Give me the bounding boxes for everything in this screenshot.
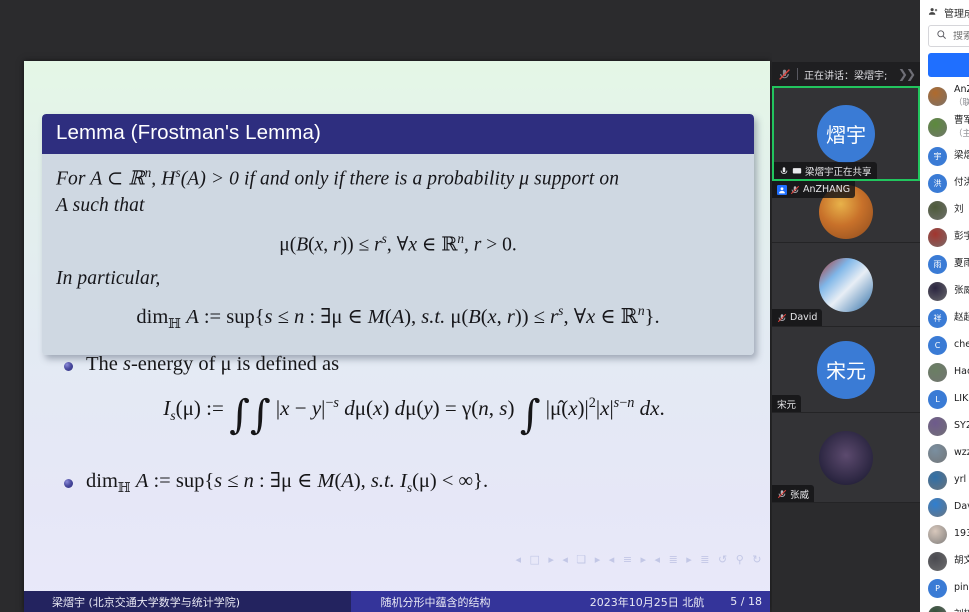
participant-search[interactable] xyxy=(928,25,969,47)
tile-label: 张威 xyxy=(772,485,814,502)
theorem-title: Lemma (Frostman's Lemma) xyxy=(42,114,754,154)
participant-text: chengang xyxy=(954,340,969,351)
video-tile-liangyuyu[interactable]: 熠宇 梁熠宇正在共享 xyxy=(772,86,920,181)
avatar xyxy=(928,417,947,436)
participant-name: 刘 xyxy=(954,205,964,216)
participant-row[interactable]: wzz xyxy=(920,440,969,467)
avatar xyxy=(819,431,873,485)
mic-muted-icon xyxy=(777,313,787,323)
avatar xyxy=(928,201,947,220)
participant-name: 梁熠宇 xyxy=(954,151,969,162)
bullet-dot-icon xyxy=(64,362,73,371)
participant-row[interactable]: Cchengang xyxy=(920,332,969,359)
participant-text: LIKE xyxy=(954,394,969,405)
speaking-label: 正在讲话：梁熠宇; xyxy=(804,67,887,82)
participant-row[interactable]: 刘梓晖 xyxy=(920,602,969,612)
tile-label: AnZHANG xyxy=(772,181,855,198)
participant-name: 胡文妍 sy xyxy=(954,556,969,567)
avatar xyxy=(928,552,947,571)
avatar xyxy=(819,258,873,312)
avatar: L xyxy=(928,390,947,409)
chevrons-right-icon[interactable]: ❯❯ xyxy=(898,67,914,81)
participants-panel: 管理成员 会议中 AnZHANG（联席主持人）曹军（主持人）宇梁熠宇洪付洪刘彭宇… xyxy=(920,0,969,612)
bullet-label-2: dimℍ A := sup{s ≤ n : ∃μ ∈ M(A), s.t. Is… xyxy=(86,468,488,497)
avatar: 雨 xyxy=(928,255,947,274)
avatar: 熠宇 xyxy=(817,105,875,163)
participant-text: 胡文妍 sy xyxy=(954,556,969,567)
beamer-navigation-symbols[interactable]: ◂ □ ▸ ◂ ❏ ▸ ◂ ≡ ▸ ◂ ≣ ▸ ≣ ↺ ⚲ ↻ xyxy=(515,553,764,566)
host-badge-icon xyxy=(777,185,787,195)
participant-text: pinny xyxy=(954,583,969,594)
avatar xyxy=(928,498,947,517)
participant-row[interactable]: David xyxy=(920,494,969,521)
theorem-in-particular: In particular, xyxy=(56,266,740,293)
tile-label: David xyxy=(772,309,822,326)
participant-row[interactable]: yrl xyxy=(920,467,969,494)
avatar: 洪 xyxy=(928,174,947,193)
avatar: 宋元 xyxy=(817,341,875,399)
tile-label-text: 张威 xyxy=(790,487,809,501)
list-item: The s-energy of μ is defined as xyxy=(64,351,764,379)
participant-text: 赵起祥 xyxy=(954,313,969,324)
video-tile-anzhang[interactable]: AnZHANG xyxy=(772,181,920,243)
mic-muted-icon xyxy=(778,68,791,81)
participant-text: 曹军（主持人） xyxy=(954,116,969,139)
tile-label-text: 宋元 xyxy=(777,397,796,411)
participant-row[interactable]: 宇梁熠宇 xyxy=(920,143,969,170)
participant-name: wzz xyxy=(954,448,969,459)
participant-text: HaoyuSun xyxy=(954,367,969,378)
avatar xyxy=(928,363,947,382)
participant-name: 夏雨 xyxy=(954,259,969,270)
participant-name: yrl xyxy=(954,475,966,486)
participant-row[interactable]: HaoyuSun xyxy=(920,359,969,386)
avatar xyxy=(928,525,947,544)
participant-name: SY230913 xyxy=(954,421,969,432)
participant-text: 19373033 xyxy=(954,529,969,540)
participant-row[interactable]: SY230913 xyxy=(920,413,969,440)
footer-meta: 2023年10月25日 北航 5 / 18 xyxy=(520,591,770,612)
participant-row[interactable]: 曹军（主持人） xyxy=(920,112,969,143)
divider xyxy=(797,68,798,80)
participant-text: yrl xyxy=(954,475,966,486)
bullet-dot-icon xyxy=(64,479,73,488)
participant-row[interactable]: 彭宇犟SY xyxy=(920,224,969,251)
theorem-block: Lemma (Frostman's Lemma) For A ⊂ ℝn, Hs(… xyxy=(42,114,754,355)
participant-row[interactable]: 19373033 xyxy=(920,521,969,548)
participant-text: 彭宇犟SY xyxy=(954,232,969,243)
participant-row[interactable]: 张威 xyxy=(920,278,969,305)
screen: Lemma (Frostman's Lemma) For A ⊂ ℝn, Hs(… xyxy=(0,0,969,612)
theorem-body: For A ⊂ ℝn, Hs(A) > 0 if and only if the… xyxy=(42,154,754,355)
participants-panel-inner: 管理成员 会议中 AnZHANG（联席主持人）曹军（主持人）宇梁熠宇洪付洪刘彭宇… xyxy=(920,0,969,612)
participant-name: pinny xyxy=(954,583,969,594)
energy-equation: Is(μ) := ∫∫ |x − y|−s dμ(x) dμ(y) = γ(n,… xyxy=(64,395,764,427)
theorem-equation-1: μ(B(x, r)) ≤ rs, ∀x ∈ ℝn, r > 0. xyxy=(56,231,740,257)
participant-row[interactable]: 雨夏雨 xyxy=(920,251,969,278)
bullet-list: The s-energy of μ is defined as Is(μ) :=… xyxy=(64,351,764,502)
participant-text: 刘 xyxy=(954,205,964,216)
mic-icon xyxy=(779,166,789,176)
footer-title: 随机分形中蕴含的结构 xyxy=(351,591,520,612)
participant-text: AnZHANG（联席主持人） xyxy=(954,85,969,108)
participant-row[interactable]: 胡文妍 sy xyxy=(920,548,969,575)
participant-name: 彭宇犟SY xyxy=(954,232,969,243)
participant-name: 张威 xyxy=(954,286,969,297)
participant-row[interactable]: AnZHANG（联席主持人） xyxy=(920,81,969,112)
participant-row[interactable]: Ppinny xyxy=(920,575,969,602)
people-icon xyxy=(928,6,939,20)
theorem-statement: For A ⊂ ℝn, Hs(A) > 0 if and only if the… xyxy=(56,164,740,220)
video-tile-songyuan[interactable]: 宋元 宋元 xyxy=(772,327,920,413)
participant-name: AnZHANG xyxy=(954,85,969,96)
panel-header: 管理成员 xyxy=(920,0,969,23)
screen-share-icon xyxy=(792,166,802,176)
avatar: C xyxy=(928,336,947,355)
avatar: P xyxy=(928,579,947,598)
participant-role: （联席主持人） xyxy=(954,96,969,108)
tile-label-text: David xyxy=(790,312,817,323)
participant-text: wzz xyxy=(954,448,969,459)
participant-role: （主持人） xyxy=(954,127,969,139)
participant-text: SY230913 xyxy=(954,421,969,432)
video-tile-zhangwei[interactable]: 张威 xyxy=(772,413,920,503)
presentation-slide: Lemma (Frostman's Lemma) For A ⊂ ℝn, Hs(… xyxy=(24,61,770,612)
panel-header-label: 管理成员 xyxy=(944,5,969,20)
active-speaker-bar: 正在讲话：梁熠宇; ❯❯ xyxy=(772,62,920,86)
meeting-status-button[interactable]: 会议中 xyxy=(928,53,969,77)
participant-name: chengang xyxy=(954,340,969,351)
participant-name: HaoyuSun xyxy=(954,367,969,378)
mic-muted-icon xyxy=(790,185,800,195)
participant-row[interactable]: LLIKE xyxy=(920,386,969,413)
participant-name: 赵起祥 xyxy=(954,313,969,324)
avatar xyxy=(928,228,947,247)
avatar xyxy=(928,444,947,463)
theorem-equation-2: dimℍ A := sup{s ≤ n : ∃μ ∈ M(A), s.t. μ(… xyxy=(56,304,740,332)
tile-label: 宋元 xyxy=(772,395,801,412)
avatar xyxy=(928,118,947,137)
avatar: 祥 xyxy=(928,309,947,328)
footer-page-number: 5 / 18 xyxy=(730,595,762,608)
participant-text: 张威 xyxy=(954,286,969,297)
slide-body: Lemma (Frostman's Lemma) For A ⊂ ℝn, Hs(… xyxy=(24,61,770,590)
footer-author: 梁熠宇 (北京交通大学数学与统计学院) xyxy=(24,591,351,612)
participant-text: 夏雨 xyxy=(954,259,969,270)
participant-list: AnZHANG（联席主持人）曹军（主持人）宇梁熠宇洪付洪刘彭宇犟SY雨夏雨张威祥… xyxy=(920,81,969,612)
avatar: 宇 xyxy=(928,147,947,166)
participant-row[interactable]: 刘 xyxy=(920,197,969,224)
participant-text: David xyxy=(954,502,969,513)
participant-row[interactable]: 祥赵起祥 xyxy=(920,305,969,332)
search-icon xyxy=(936,27,947,45)
avatar xyxy=(928,87,947,106)
avatar xyxy=(928,471,947,490)
participant-text: 付洪 xyxy=(954,178,969,189)
video-filmstrip: 正在讲话：梁熠宇; ❯❯ 熠宇 梁熠宇正在共享 xyxy=(772,0,920,612)
participant-name: 付洪 xyxy=(954,178,969,189)
video-tile-david[interactable]: David xyxy=(772,243,920,327)
tile-label-text: 梁熠宇正在共享 xyxy=(805,164,872,178)
participant-name: 曹军 xyxy=(954,116,969,127)
tile-label-text: AnZHANG xyxy=(803,184,850,195)
bullet-label-1: The s-energy of μ is defined as xyxy=(86,351,339,379)
participant-row[interactable]: 洪付洪 xyxy=(920,170,969,197)
mic-muted-icon xyxy=(777,489,787,499)
footer-date: 2023年10月25日 北航 xyxy=(590,594,705,610)
participant-name: LIKE xyxy=(954,394,969,405)
participant-name: David xyxy=(954,502,969,513)
tile-label: 梁熠宇正在共享 xyxy=(774,162,877,179)
avatar xyxy=(928,606,947,612)
search-input[interactable] xyxy=(953,31,969,42)
list-item: dimℍ A := sup{s ≤ n : ∃μ ∈ M(A), s.t. Is… xyxy=(64,468,764,497)
participant-name: 19373033 xyxy=(954,529,969,540)
participant-text: 梁熠宇 xyxy=(954,151,969,162)
slide-footer: 梁熠宇 (北京交通大学数学与统计学院) 随机分形中蕴含的结构 2023年10月2… xyxy=(24,591,770,612)
avatar xyxy=(928,282,947,301)
